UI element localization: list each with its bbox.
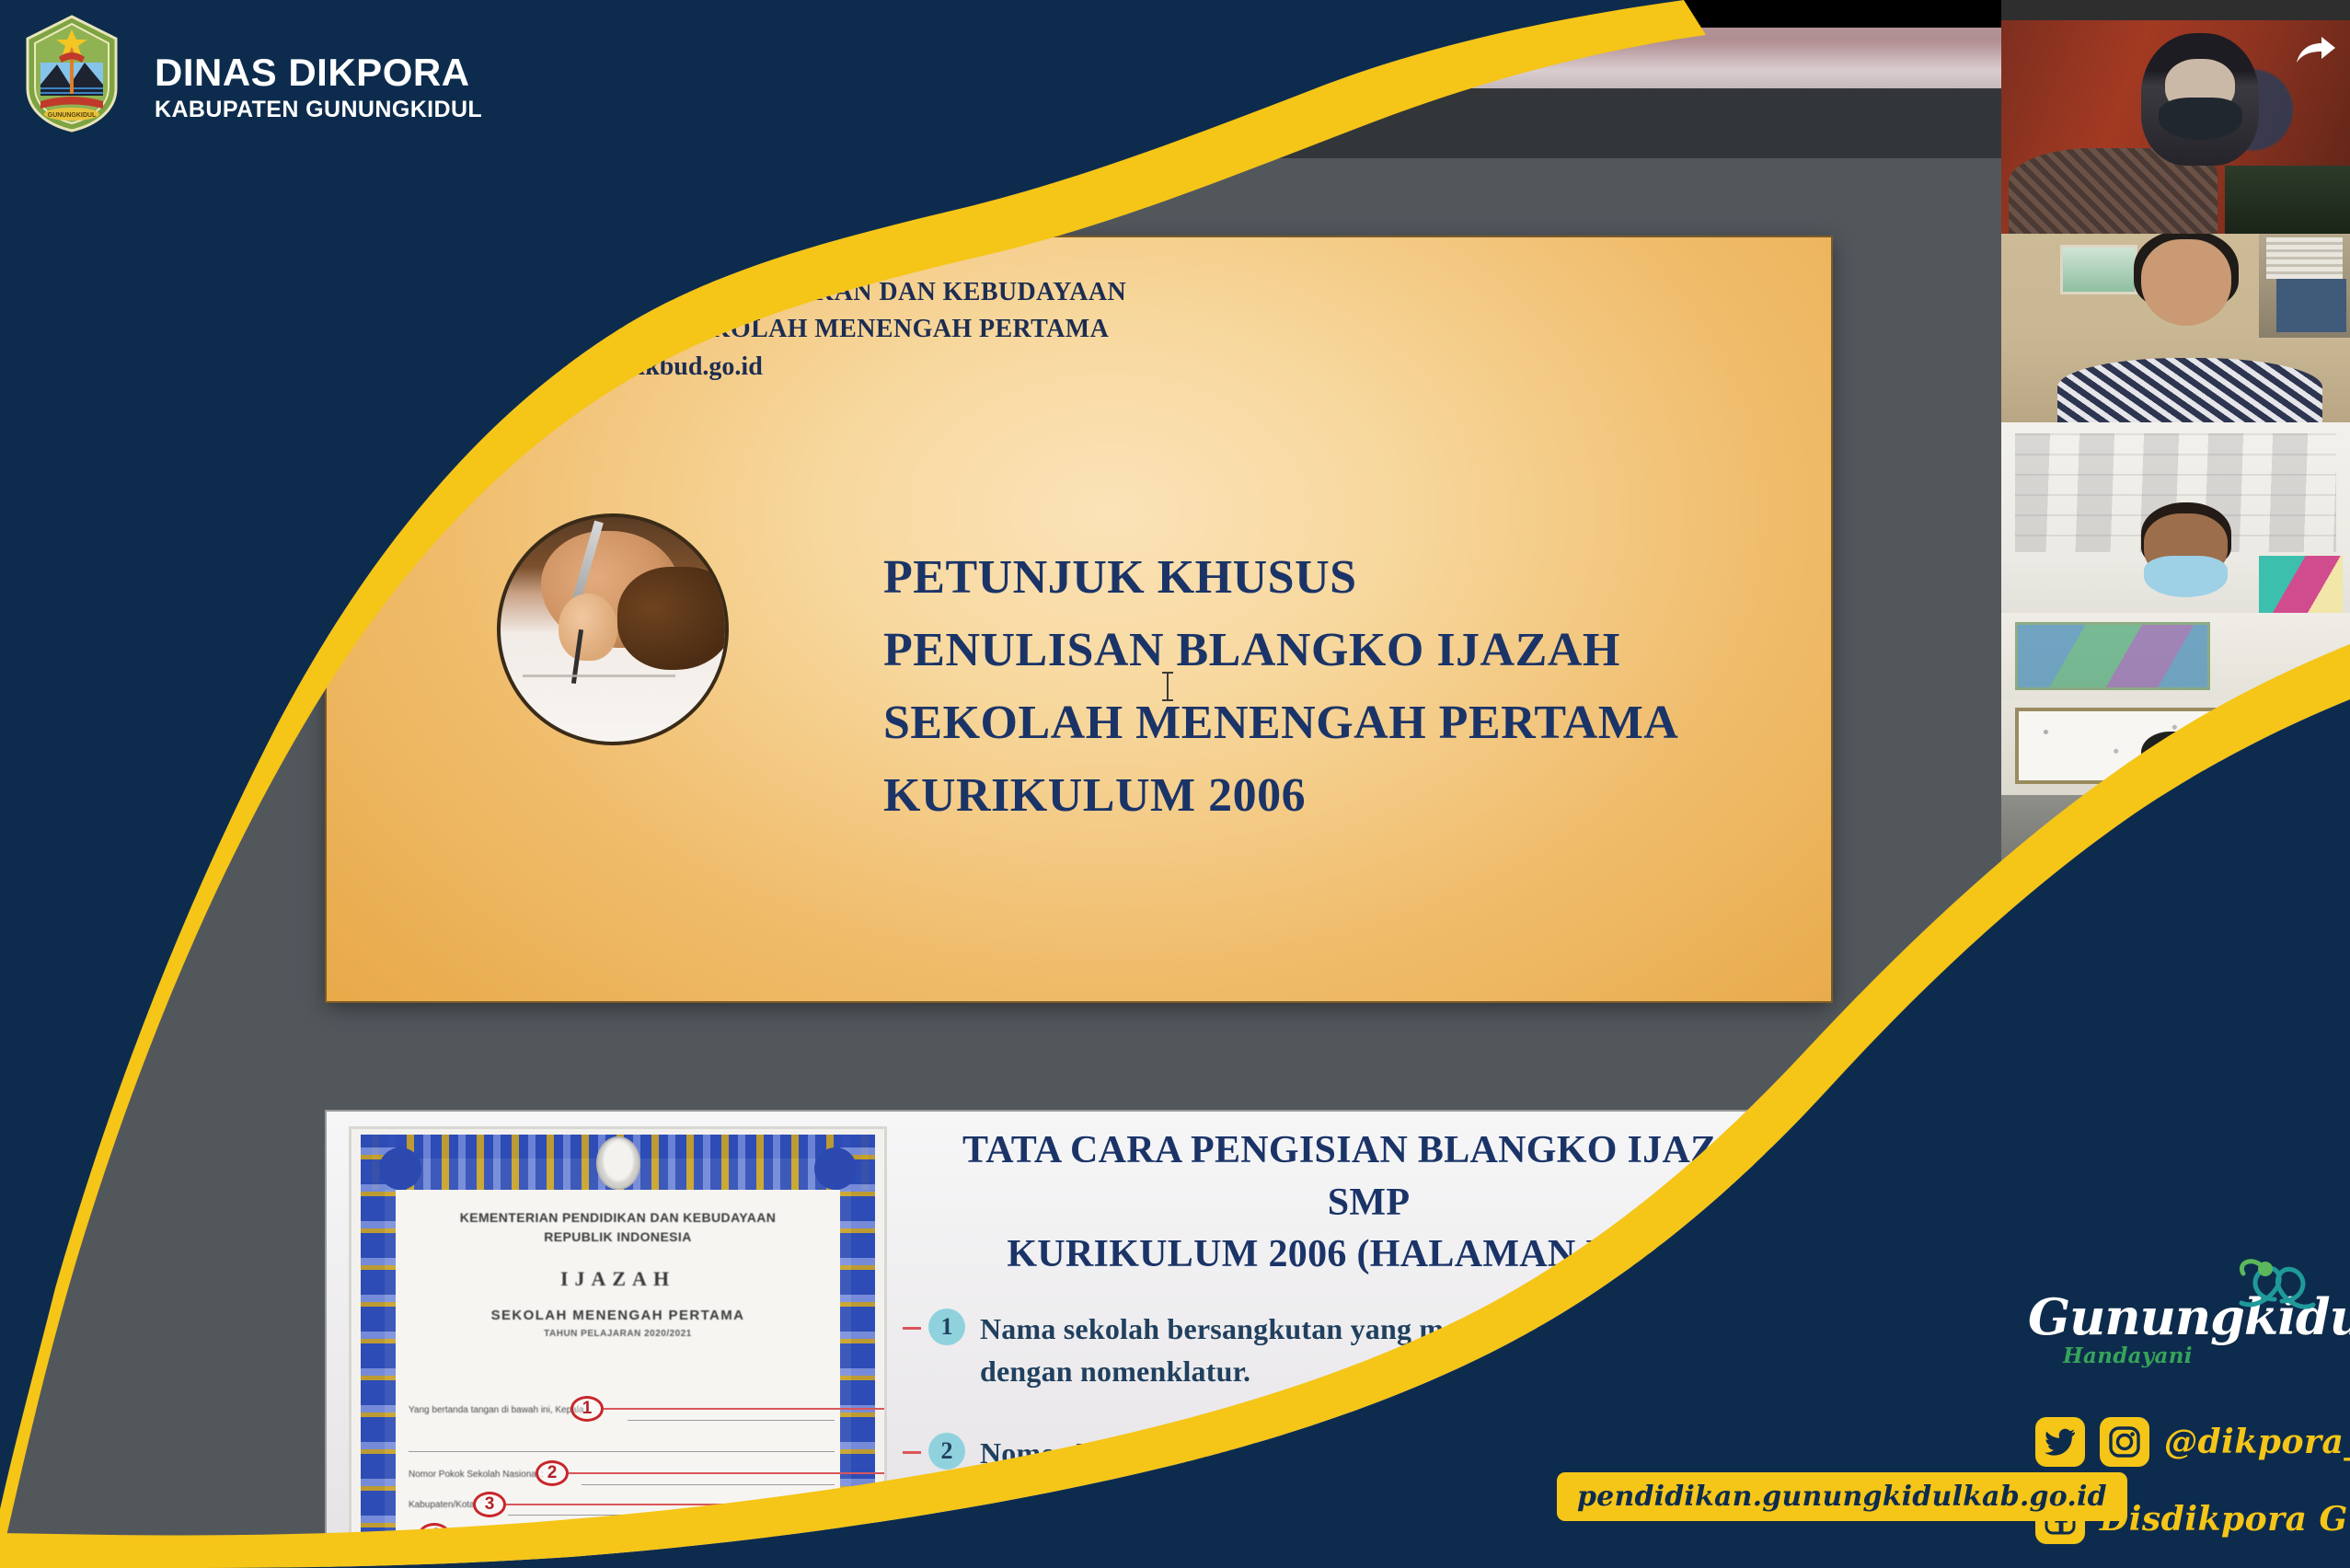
participant-tile-7[interactable] (2001, 1032, 2350, 1233)
cert-marker-3: 3 (473, 1492, 506, 1517)
slide-title-line-1: PETUNJUK KHUSUS (883, 541, 1767, 614)
gunungkidul-coat-of-arms-icon: GUNUNGKIDUL (17, 15, 127, 133)
zoom-in-button[interactable] (892, 103, 932, 144)
ijazah-certificate-image: KEMENTERIAN PENDIDIKAN DAN KEBUDAYAAN RE… (349, 1126, 887, 1559)
share-arrow-icon[interactable] (2295, 35, 2337, 66)
fit-to-width-icon (985, 111, 1017, 135)
social-row-top: @dikpora_gk (2035, 1417, 2350, 1467)
svg-text:GUNUNGKIDUL: GUNUNGKIDUL (48, 112, 97, 119)
minus-icon (768, 121, 796, 125)
org-title: DINAS DIKPORA (155, 52, 482, 93)
list-item-number: 2 (928, 1433, 965, 1470)
rotate-button[interactable] (1021, 103, 1062, 144)
logo-ring-text: TUT WURI HANDAYANI (363, 269, 472, 278)
fit-page-button[interactable] (981, 103, 1021, 144)
slide-title-line-3: SEKOLAH MENENGAH PERTAMA (883, 686, 1767, 759)
zoom-level-value[interactable]: 100% (808, 108, 886, 140)
screen-root: 12 / 55 100% (0, 0, 2350, 1568)
participant-tile-2[interactable] (2001, 234, 2350, 422)
slide2-title-line-1: TATA CARA PENGISIAN BLANGKO IJAZAH SMP (916, 1124, 1822, 1228)
list-item: 3 Nama nomenklatur kabupaten/kota*) ( (916, 1515, 1822, 1556)
facebook-handle: Disdikpora Gunungkidul (2100, 1500, 2350, 1539)
participant-tile-1[interactable] (2001, 20, 2350, 234)
garuda-pancasila-icon (596, 1136, 640, 1190)
cert-field-label-1: Yang bertanda tangan di bawah ini, Kepal… (409, 1405, 584, 1415)
participant-tile-5[interactable] (2001, 700, 2350, 875)
list-item-text: Nama nomenklatur kabupaten/kota*) ( (980, 1515, 1479, 1556)
list-item: 2 Nomor Pokok Sekolah Nasional (NPSN) (916, 1433, 1822, 1474)
twitter-icon (2045, 1428, 2076, 1456)
cert-trailing-note: menerangkan bahwa (720, 1531, 805, 1541)
ministry-line-1: KEMENTERIAN PENDIDIKAN DAN KEBUDAYAAN (494, 274, 1126, 311)
cert-title: IJAZAH (407, 1267, 829, 1291)
slide-title-line-4: KURIKULUM 2006 (883, 759, 1767, 832)
page-total-label: / 55 (678, 111, 713, 136)
ministry-heading: KEMENTERIAN PENDIDIKAN DAN KEBUDAYAAN DI… (494, 274, 1126, 386)
twitter-button[interactable] (2035, 1417, 2085, 1467)
pdf-toolbar-controls: 12 / 55 100% (626, 88, 1062, 158)
cert-school-year: TAHUN PELAJARAN 2020/2021 (407, 1329, 829, 1339)
ministry-url: ditsmp.kemdikbud.go.id (494, 348, 1126, 386)
ministry-line-2: DIREKTORAT SEKOLAH MENENGAH PERTAMA (494, 311, 1126, 348)
text-cursor (1167, 672, 1169, 701)
participant-video-strip[interactable] (2001, 0, 2350, 1233)
participant-tile-6[interactable] (2001, 875, 2350, 1032)
cert-field-label-3: Kabupaten/Kota (409, 1500, 475, 1510)
pdf-page-12[interactable]: TUT WURI HANDAYANI KEMENTERIAN PENDIDIKA… (327, 237, 1831, 1001)
cert-header-line-2: REPUBLIK INDONESIA (407, 1228, 829, 1247)
page-title: DINAS DIKPORA KABUPATEN GUNUNGKIDUL (155, 52, 482, 123)
toolbar-divider-1 (737, 110, 738, 137)
page-number-input[interactable]: 12 (626, 109, 670, 139)
gunungkidul-city-logo: Gunungkidul Handayani (2028, 1292, 2313, 1395)
cert-subtitle: SEKOLAH MENENGAH PERTAMA (407, 1308, 829, 1323)
city-logo-tagline: Handayani (2063, 1343, 2313, 1368)
cert-marker-2: 2 (536, 1460, 569, 1486)
participant-tile-3[interactable] (2001, 422, 2350, 613)
list-item: 1 Nama sekolah bersangkutan yang menerbi… (916, 1309, 1822, 1392)
screen-letterbox (1343, 0, 2001, 28)
toolbar-divider-2 (956, 110, 957, 137)
cert-field-label-2: Nomor Pokok Sekolah Nasional : (409, 1470, 544, 1480)
cert-header-line-1: KEMENTERIAN PENDIDIKAN DAN KEBUDAYAAN (407, 1208, 829, 1228)
rotate-clockwise-icon (1026, 108, 1057, 139)
participant-tile-4[interactable] (2001, 613, 2350, 700)
hand-writing-with-pen-photo (497, 513, 729, 745)
shared-screen-area: 12 / 55 100% (0, 0, 2001, 1568)
website-url-badge: pendidikan.gunungkidulkab.go.id (1557, 1472, 2127, 1521)
list-item-number: 1 (928, 1309, 965, 1345)
slide-title-line-2: PENULISAN BLANGKO IJAZAH (883, 614, 1767, 686)
list-item-number: 3 (928, 1515, 965, 1551)
instagram-handle: @dikpora_gk (2164, 1423, 2350, 1461)
list-item-text: Nomor Pokok Sekolah Nasional (NPSN) (980, 1433, 1490, 1474)
tut-wuri-handayani-icon: TUT WURI HANDAYANI (363, 263, 472, 372)
list-item-text: Nama sekolah bersangkutan yang menerbitk… (980, 1309, 1822, 1392)
slide2-title-line-2: KURIKULUM 2006 (HALAMAN DEPAN) (916, 1228, 1822, 1281)
instagram-icon (2109, 1426, 2140, 1458)
instagram-button[interactable] (2100, 1417, 2149, 1467)
org-subtitle: KABUPATEN GUNUNGKIDUL (155, 97, 482, 123)
slide-title: PETUNJUK KHUSUS PENULISAN BLANGKO IJAZAH… (883, 541, 1767, 832)
zoom-out-button[interactable] (762, 103, 802, 144)
cert-marker-1: 1 (570, 1396, 604, 1422)
gunungkidul-ornament-icon (2218, 1257, 2319, 1331)
plus-icon (898, 110, 926, 137)
cert-marker-4: 4 (418, 1523, 451, 1549)
